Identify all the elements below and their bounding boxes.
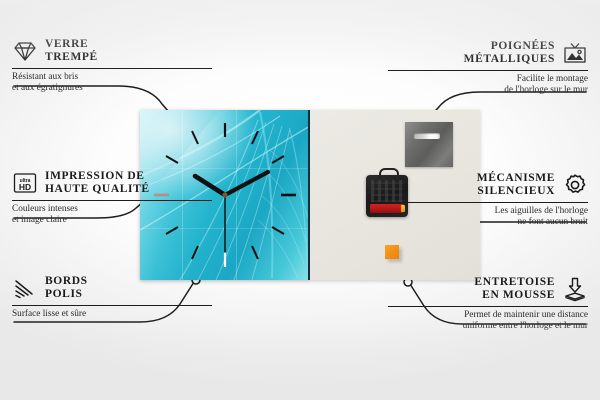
wall-mount-frame-icon [562, 40, 588, 66]
hanger-keyhole-slot [414, 133, 440, 139]
feature-title: POIGNÉES MÉTALLIQUES [464, 40, 555, 66]
feature-subtitle: Permet de maintenir une distance uniform… [388, 310, 588, 331]
divider [12, 68, 212, 69]
divider [388, 306, 588, 307]
divider [12, 200, 212, 201]
feature-subtitle: Les aiguilles de l'horloge ne font aucun… [388, 206, 588, 227]
foam-spacer-arrow-icon [562, 276, 588, 302]
diamond-icon [12, 38, 38, 64]
feature-bords-polis: BORDS POLIS Surface lisse et sûre [12, 275, 212, 320]
feature-mecanisme-silencieux: MÉCANISME SILENCIEUX Les aiguilles de l'… [388, 172, 588, 227]
feature-impression-haute-qualite: ultra HD IMPRESSION DE HAUTE QUALITÉ Cou… [12, 170, 212, 225]
foam-spacer [385, 245, 399, 259]
metal-hanger-plate [405, 122, 453, 167]
feature-subtitle: Résistant aux bris et aux égratignures [12, 72, 212, 93]
feature-title: ENTRETOISE EN MOUSSE [474, 276, 555, 302]
feature-subtitle: Facilite le montage de l'horloge sur le … [388, 74, 588, 95]
feature-subtitle: Surface lisse et sûre [12, 309, 212, 320]
ultra-hd-icon: ultra HD [12, 170, 38, 196]
feature-title: VERRE TREMPÉ [45, 38, 98, 64]
polished-edges-icon [12, 275, 38, 301]
feature-verre-trempe: VERRE TREMPÉ Résistant aux bris et aux é… [12, 38, 212, 93]
feature-title: MÉCANISME SILENCIEUX [477, 172, 555, 198]
feature-subtitle: Couleurs intenses et image claire [12, 204, 212, 225]
divider [388, 202, 588, 203]
infographic-canvas: VERRE TREMPÉ Résistant aux bris et aux é… [0, 0, 600, 400]
feature-title: IMPRESSION DE HAUTE QUALITÉ [45, 170, 150, 196]
feature-entretoise-en-mousse: ENTRETOISE EN MOUSSE Permet de maintenir… [388, 276, 588, 331]
divider [12, 305, 212, 306]
feature-title: BORDS POLIS [45, 275, 88, 301]
gear-icon [562, 172, 588, 198]
svg-text:HD: HD [19, 182, 31, 192]
divider [388, 70, 588, 71]
feature-poignees-metalliques: POIGNÉES MÉTALLIQUES Facilite le montage… [388, 40, 588, 95]
